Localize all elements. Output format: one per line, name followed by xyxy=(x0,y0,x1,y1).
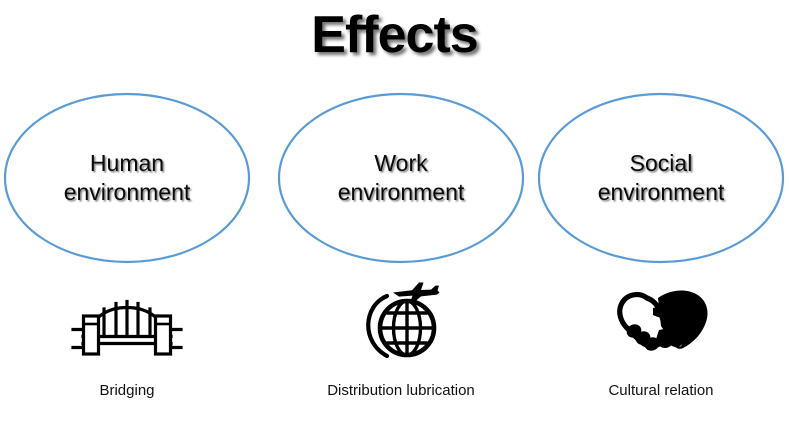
ellipse-label-human-environment: Human environment xyxy=(3,92,251,264)
ellipse-social-environment[interactable]: Social environment xyxy=(537,92,785,264)
ellipse-label-line2: environment xyxy=(338,178,465,207)
icon-container-distribution-lubrication xyxy=(277,280,525,366)
page-title-text: Effects xyxy=(311,9,477,61)
effect-column-social-environment: Social environment xyxy=(537,92,787,422)
caption-bridging: Bridging xyxy=(3,382,251,400)
ellipse-label-social-environment: Social environment xyxy=(537,92,785,264)
globe-airplane-icon xyxy=(357,280,445,366)
effect-column-human-environment: Human environment xyxy=(3,92,253,422)
ellipse-human-environment[interactable]: Human environment xyxy=(3,92,251,264)
icon-container-cultural-relation xyxy=(537,280,785,366)
ellipse-label-line1: Social xyxy=(630,149,693,178)
caption-distribution-lubrication: Distribution lubrication xyxy=(277,382,525,400)
ellipse-label-line1: Human xyxy=(90,149,164,178)
effect-column-work-environment: Work environment xyxy=(277,92,527,422)
ellipse-work-environment[interactable]: Work environment xyxy=(277,92,525,264)
handshake-icon xyxy=(609,286,713,360)
airplane-glyph xyxy=(393,283,440,302)
icon-container-bridging xyxy=(3,280,251,366)
ellipse-label-line2: environment xyxy=(598,178,725,207)
ellipse-label-line2: environment xyxy=(64,178,191,207)
page-title: Effects xyxy=(0,0,789,70)
ellipse-label-work-environment: Work environment xyxy=(277,92,525,264)
ellipse-label-line1: Work xyxy=(374,149,427,178)
bridge-icon xyxy=(71,283,183,363)
caption-cultural-relation: Cultural relation xyxy=(537,382,785,400)
